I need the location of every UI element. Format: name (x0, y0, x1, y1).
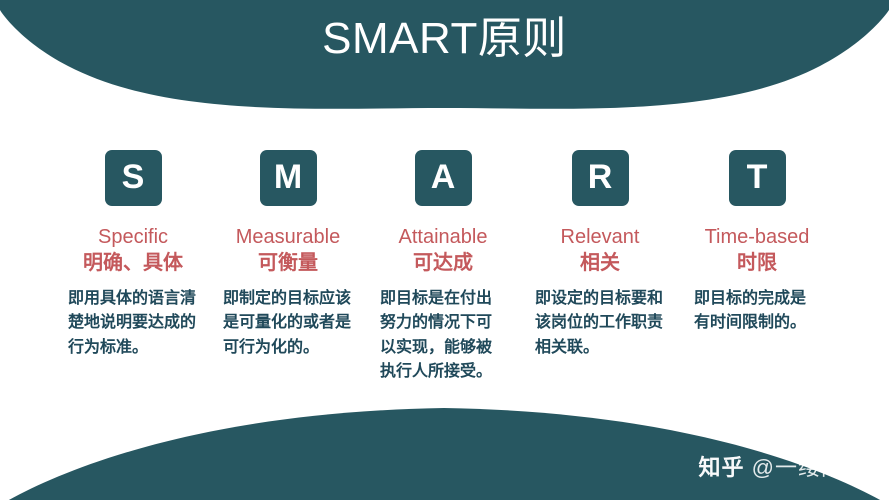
letter-tile-t: T (729, 150, 786, 206)
heading-cn-measurable: 可衡量 (258, 251, 318, 275)
body-text-specific: 即用具体的语言清楚地说明要达成的行为标准。 (68, 287, 198, 360)
heading-cn-specific: 明确、具体 (83, 251, 183, 275)
smart-column-relevant: R Relevant 相关 即设定的目标要和该岗位的工作职责相关联。 (522, 150, 678, 360)
body-text-attainable: 即目标是在付出努力的情况下可以实现，能够被执行人所接受。 (380, 287, 506, 384)
heading-en-timebased: Time-based (705, 225, 810, 249)
heading-en-attainable: Attainable (399, 225, 488, 249)
letter-tile-r: R (572, 150, 629, 206)
smart-column-specific: S Specific 明确、具体 即用具体的语言清楚地说明要达成的行为标准。 (55, 150, 211, 360)
heading-cn-timebased: 时限 (737, 251, 777, 275)
smart-columns: S Specific 明确、具体 即用具体的语言清楚地说明要达成的行为标准。 M… (0, 150, 889, 410)
heading-en-relevant: Relevant (561, 225, 640, 249)
heading-cn-relevant: 相关 (580, 251, 620, 275)
letter-tile-a: A (415, 150, 472, 206)
letter-tile-m: M (260, 150, 317, 206)
body-text-timebased: 即目标的完成是有时间限制的。 (694, 287, 820, 336)
heading-en-measurable: Measurable (236, 225, 341, 249)
smart-column-measurable: M Measurable 可衡量 即制定的目标应该是可量化的或者是可行为化的。 (210, 150, 366, 360)
page-title: SMART原则 (0, 14, 889, 65)
letter-tile-s: S (105, 150, 162, 206)
watermark-site: 知乎 (699, 455, 745, 480)
watermark-handle: @一缕阳光 (752, 455, 867, 480)
slide-canvas: SMART原则 S Specific 明确、具体 即用具体的语言清楚地说明要达成… (0, 0, 889, 500)
body-text-measurable: 即制定的目标应该是可量化的或者是可行为化的。 (223, 287, 353, 360)
body-text-relevant: 即设定的目标要和该岗位的工作职责相关联。 (535, 287, 665, 360)
smart-column-attainable: A Attainable 可达成 即目标是在付出努力的情况下可以实现，能够被执行… (365, 150, 521, 384)
heading-cn-attainable: 可达成 (413, 251, 473, 275)
smart-column-timebased: T Time-based 时限 即目标的完成是有时间限制的。 (679, 150, 835, 336)
heading-en-specific: Specific (98, 225, 168, 249)
watermark: 知乎 @一缕阳光 (699, 450, 867, 482)
